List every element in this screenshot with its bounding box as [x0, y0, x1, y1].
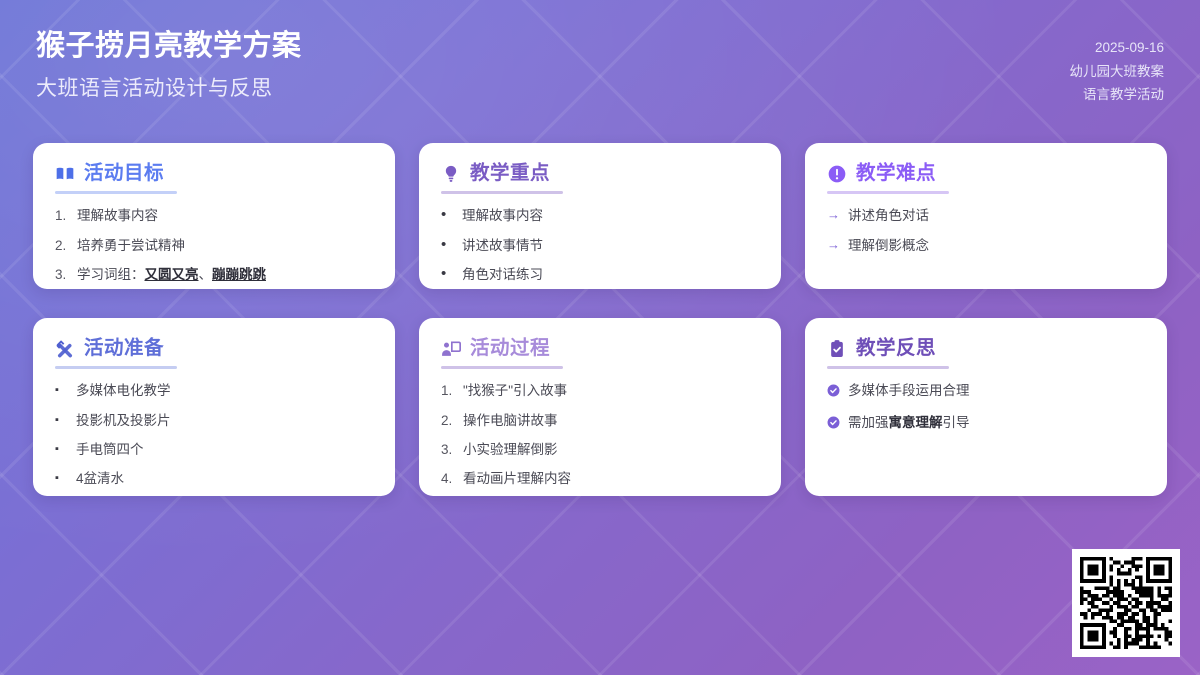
card-title: 教学反思 [856, 338, 936, 359]
list-marker: → [827, 207, 841, 223]
card-header: 活动目标 [55, 163, 373, 184]
card-teaching-focus: 教学重点•理解故事内容•讲述故事情节•角色对话练习 [419, 143, 781, 289]
list-item-text: 小实验理解倒影 [463, 441, 558, 459]
list-item-text: 投影机及投影片 [76, 412, 171, 430]
list-marker: ▪ [55, 382, 69, 399]
list-item-text: 多媒体手段运用合理 [848, 382, 970, 400]
list-item-text: 学习词组：又圆又亮、蹦蹦跳跳 [77, 266, 266, 284]
list-item: 1.理解故事内容 [55, 207, 373, 225]
card-item-list: ▪多媒体电化教学▪投影机及投影片▪手电筒四个▪4盆清水 [55, 382, 373, 488]
list-marker: 1. [441, 382, 456, 400]
list-marker: ▪ [55, 470, 69, 487]
qr-code-image [1080, 557, 1172, 649]
card-header: 活动过程 [441, 338, 759, 359]
card-teaching-reflection: 教学反思多媒体手段运用合理需加强寓意理解引导 [805, 318, 1167, 496]
list-item: →理解倒影概念 [827, 237, 1145, 255]
card-activity-goals: 活动目标1.理解故事内容2.培养勇于尝试精神3.学习词组：又圆又亮、蹦蹦跳跳 [33, 143, 395, 289]
list-item-text: 理解倒影概念 [848, 237, 929, 255]
card-item-list: 1.理解故事内容2.培养勇于尝试精神3.学习词组：又圆又亮、蹦蹦跳跳 [55, 207, 373, 284]
card-item-list: •理解故事内容•讲述故事情节•角色对话练习 [441, 207, 759, 284]
list-item-text: 培养勇于尝试精神 [77, 237, 185, 255]
page-title: 猴子捞月亮教学方案 [36, 28, 1160, 64]
card-title: 教学难点 [856, 163, 936, 184]
list-item-text: 理解故事内容 [77, 207, 158, 225]
card-header: 教学难点 [827, 163, 1145, 184]
list-item-text: 需加强寓意理解引导 [848, 414, 970, 432]
title-underline [55, 191, 177, 194]
list-item: 4.看动画片理解内容 [441, 470, 759, 488]
page-header: 猴子捞月亮教学方案 大班语言活动设计与反思 2025-09-16 幼儿园大班教案… [0, 0, 1200, 128]
check-circle-icon [827, 414, 841, 434]
card-title: 活动目标 [84, 163, 164, 184]
card-header: 教学反思 [827, 338, 1145, 359]
card-item-list: 1."找猴子"引入故事2.操作电脑讲故事3.小实验理解倒影4.看动画片理解内容 [441, 382, 759, 488]
list-item: 3.学习词组：又圆又亮、蹦蹦跳跳 [55, 266, 373, 284]
list-item: →讲述角色对话 [827, 207, 1145, 225]
title-underline [827, 191, 949, 194]
card-header: 活动准备 [55, 338, 373, 359]
list-marker: 3. [55, 266, 70, 284]
list-item: ▪多媒体电化教学 [55, 382, 373, 400]
title-underline [827, 366, 949, 369]
list-marker: 3. [441, 441, 456, 459]
list-item: •角色对话练习 [441, 266, 759, 284]
list-item: ▪投影机及投影片 [55, 412, 373, 430]
list-item-text: 多媒体电化教学 [76, 382, 171, 400]
list-item-text: 讲述角色对话 [848, 207, 929, 225]
list-item-text: 讲述故事情节 [462, 237, 543, 255]
meta-date: 2025-09-16 [1070, 36, 1165, 60]
card-title: 活动准备 [84, 338, 164, 359]
list-item-text: 理解故事内容 [462, 207, 543, 225]
list-item: •理解故事内容 [441, 207, 759, 225]
list-marker: • [441, 207, 455, 224]
page-subtitle: 大班语言活动设计与反思 [36, 72, 1160, 102]
card-title: 活动过程 [470, 338, 550, 359]
list-item: ▪4盆清水 [55, 470, 373, 488]
title-underline [441, 191, 563, 194]
card-header: 教学重点 [441, 163, 759, 184]
list-marker: ▪ [55, 441, 69, 458]
list-marker: 4. [441, 470, 456, 488]
card-teaching-difficulty: 教学难点→讲述角色对话→理解倒影概念 [805, 143, 1167, 289]
list-item: 3.小实验理解倒影 [441, 441, 759, 459]
list-marker: 1. [55, 207, 70, 225]
list-item: 2.培养勇于尝试精神 [55, 237, 373, 255]
card-activity-process: 活动过程1."找猴子"引入故事2.操作电脑讲故事3.小实验理解倒影4.看动画片理… [419, 318, 781, 496]
list-marker: • [441, 266, 455, 283]
list-item: 2.操作电脑讲故事 [441, 412, 759, 430]
list-item-text: 操作电脑讲故事 [463, 412, 558, 430]
book-open-icon [55, 164, 75, 184]
list-item-text: "找猴子"引入故事 [463, 382, 567, 400]
qr-code[interactable] [1072, 549, 1180, 657]
clipboard-check-icon [827, 339, 847, 359]
list-marker: → [827, 237, 841, 253]
list-item: 1."找猴子"引入故事 [441, 382, 759, 400]
list-item-text: 手电筒四个 [76, 441, 144, 459]
list-marker: • [441, 237, 455, 254]
meta-line-2: 幼儿园大班教案 [1070, 60, 1165, 84]
list-marker: 2. [55, 237, 70, 255]
list-item: ▪手电筒四个 [55, 441, 373, 459]
tools-icon [55, 339, 75, 359]
title-underline [441, 366, 563, 369]
list-item: 需加强寓意理解引导 [827, 414, 1145, 434]
header-meta: 2025-09-16 幼儿园大班教案 语言教学活动 [1070, 36, 1165, 107]
list-item-text: 角色对话练习 [462, 266, 543, 284]
list-item-text: 看动画片理解内容 [463, 470, 571, 488]
list-item: •讲述故事情节 [441, 237, 759, 255]
list-item: 多媒体手段运用合理 [827, 382, 1145, 402]
exclamation-circle-icon [827, 164, 847, 184]
card-activity-preparation: 活动准备▪多媒体电化教学▪投影机及投影片▪手电筒四个▪4盆清水 [33, 318, 395, 496]
list-marker: 2. [441, 412, 456, 430]
check-circle-icon [827, 382, 841, 402]
lightbulb-icon [441, 164, 461, 184]
list-marker: ▪ [55, 412, 69, 429]
card-title: 教学重点 [470, 163, 550, 184]
card-item-list: →讲述角色对话→理解倒影概念 [827, 207, 1145, 254]
list-item-text: 4盆清水 [76, 470, 124, 488]
title-underline [55, 366, 177, 369]
cards-grid: 活动目标1.理解故事内容2.培养勇于尝试精神3.学习词组：又圆又亮、蹦蹦跳跳教学… [33, 143, 1167, 496]
meta-line-3: 语言教学活动 [1070, 83, 1165, 107]
presentation-person-icon [441, 339, 461, 359]
card-item-list: 多媒体手段运用合理需加强寓意理解引导 [827, 382, 1145, 433]
